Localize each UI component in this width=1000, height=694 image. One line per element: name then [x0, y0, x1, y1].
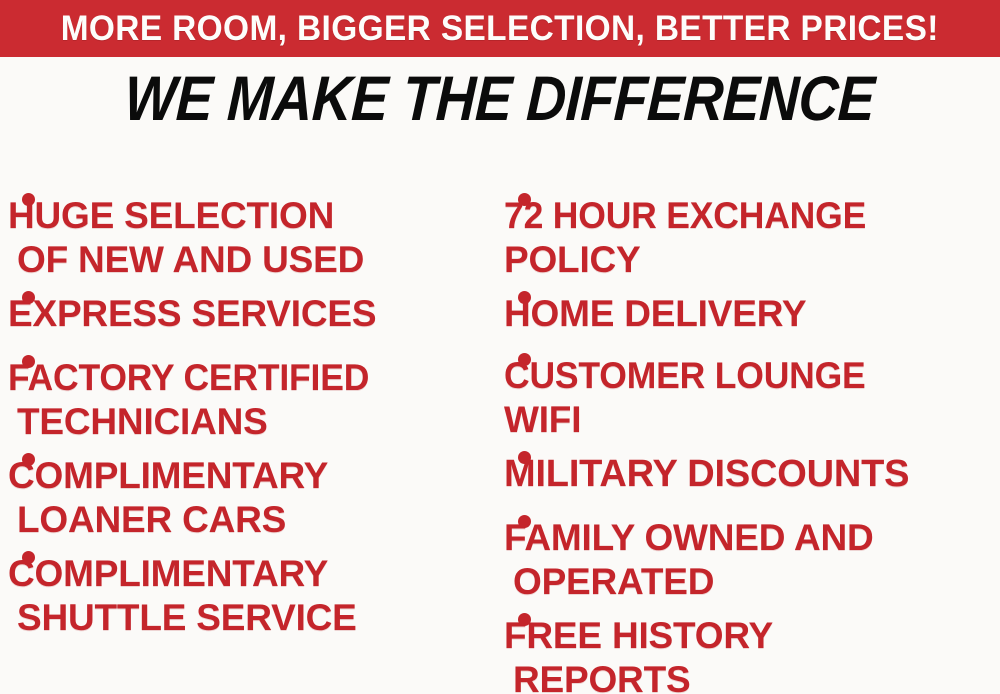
benefit-line-1: CUSTOMER LOUNGE: [504, 354, 866, 398]
headline-text: WE MAKE THE DIFFERENCE: [124, 68, 877, 131]
benefit-item-text: MILITARY DISCOUNTS: [504, 452, 909, 496]
benefit-line-1: COMPLIMENTARY: [8, 552, 357, 596]
bullet-dot-icon: [22, 453, 35, 466]
benefit-item-text: HOME DELIVERY: [504, 292, 806, 336]
benefit-item-text: HUGE SELECTION OF NEW AND USED: [8, 194, 364, 282]
benefit-item: MILITARY DISCOUNTS: [504, 434, 909, 496]
benefit-line-1: FACTORY CERTIFIED: [8, 356, 369, 400]
benefit-item-text: FACTORY CERTIFIED TECHNICIANS: [8, 356, 384, 444]
bullet-dot-icon: [22, 551, 35, 564]
bullet-dot-icon: [518, 451, 531, 464]
benefit-item: COMPLIMENTARY SHUTTLE SERVICE: [8, 534, 357, 640]
benefit-line-2: REPORTS: [504, 658, 773, 694]
benefit-line-1: FAMILY OWNED AND: [504, 516, 874, 560]
bullet-dot-icon: [22, 193, 35, 206]
benefit-item: FACTORY CERTIFIED TECHNICIANS: [8, 338, 384, 444]
benefit-line-1: 72 HOUR EXCHANGE: [504, 194, 866, 238]
bullet-dot-icon: [22, 291, 35, 304]
bullet-dot-icon: [518, 291, 531, 304]
benefit-item: FAMILY OWNED AND OPERATED: [504, 498, 874, 604]
headline: WE MAKE THE DIFFERENCE: [0, 68, 1000, 131]
benefit-line-1: HUGE SELECTION: [8, 194, 364, 238]
top-promo-banner: MORE ROOM, BIGGER SELECTION, BETTER PRIC…: [0, 0, 1000, 57]
bullet-dot-icon: [518, 515, 531, 528]
advertisement-banner: MORE ROOM, BIGGER SELECTION, BETTER PRIC…: [0, 0, 1000, 694]
benefit-item: EXPRESS SERVICES: [8, 274, 376, 336]
benefit-item: COMPLIMENTARY LOANER CARS: [8, 436, 328, 542]
benefit-item-text: FREE HISTORY REPORTS: [504, 614, 773, 694]
benefit-item-text: CUSTOMER LOUNGE WIFI: [504, 354, 881, 442]
benefit-item-text: FAMILY OWNED AND OPERATED: [504, 516, 874, 604]
benefit-item-text: 72 HOUR EXCHANGE POLICY: [504, 194, 881, 282]
benefit-item-text: COMPLIMENTARY LOANER CARS: [8, 454, 328, 542]
bullet-dot-icon: [518, 613, 531, 626]
benefit-line-1: MILITARY DISCOUNTS: [504, 452, 909, 496]
benefit-item: FREE HISTORY REPORTS: [504, 596, 773, 694]
benefit-line-1: COMPLIMENTARY: [8, 454, 328, 498]
benefits-columns: HUGE SELECTION OF NEW AND USED EXPRESS S…: [0, 158, 1000, 694]
benefit-item-text: COMPLIMENTARY SHUTTLE SERVICE: [8, 552, 357, 640]
benefit-item: 72 HOUR EXCHANGE POLICY: [504, 176, 881, 282]
benefit-item: HOME DELIVERY: [504, 274, 806, 336]
top-promo-banner-text: MORE ROOM, BIGGER SELECTION, BETTER PRIC…: [61, 11, 939, 46]
benefit-item: CUSTOMER LOUNGE WIFI: [504, 336, 881, 442]
benefit-line-1: HOME DELIVERY: [504, 292, 806, 336]
benefit-line-1: FREE HISTORY: [504, 614, 773, 658]
benefits-column-left: HUGE SELECTION OF NEW AND USED EXPRESS S…: [8, 158, 500, 694]
benefit-line-1: EXPRESS SERVICES: [8, 292, 376, 336]
benefit-line-2: SHUTTLE SERVICE: [8, 596, 357, 640]
benefit-item: HUGE SELECTION OF NEW AND USED: [8, 176, 364, 282]
benefit-item-text: EXPRESS SERVICES: [8, 292, 376, 336]
benefits-column-right: 72 HOUR EXCHANGE POLICY HOME DELIVERY CU…: [504, 158, 1000, 694]
